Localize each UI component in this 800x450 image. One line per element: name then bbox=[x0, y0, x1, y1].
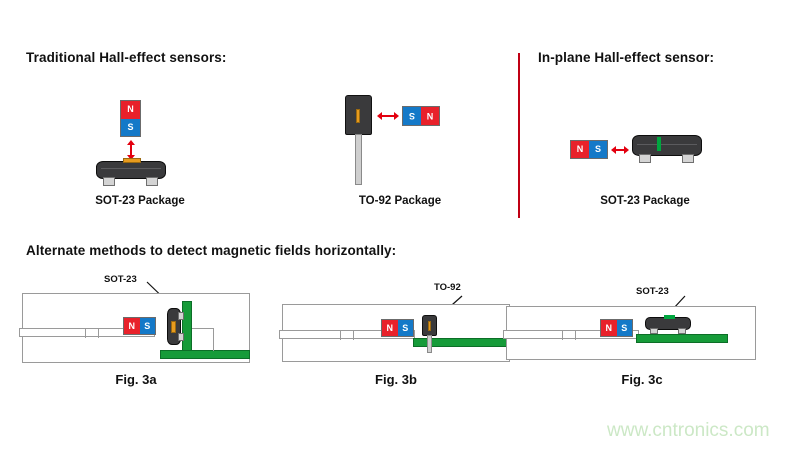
die-marker-orange bbox=[428, 321, 431, 331]
package-lead-left bbox=[639, 154, 651, 163]
to92-package-through-hole bbox=[420, 315, 440, 353]
package-lead-top bbox=[178, 312, 184, 320]
magnet-pole-south: S bbox=[398, 320, 414, 336]
die-marker-orange bbox=[171, 321, 176, 333]
magnet-pole-north: N bbox=[121, 101, 140, 119]
package-lead-right bbox=[146, 177, 158, 186]
package-body bbox=[632, 135, 702, 156]
magnet-pole-north: N bbox=[421, 107, 439, 125]
package-lead-bottom bbox=[178, 333, 184, 341]
package-pin bbox=[427, 335, 432, 353]
inplane-sot23-group: N S SOT-23 Package bbox=[570, 135, 720, 215]
fig-3b-group: TO-92 N S Fig. 3b bbox=[282, 288, 510, 388]
field-direction-arrow-vertical bbox=[125, 140, 137, 160]
sot23-package-vertical-mounted bbox=[165, 308, 183, 345]
section-divider bbox=[518, 53, 520, 218]
to92-package-horizontal-sensing bbox=[345, 95, 372, 185]
package-pin bbox=[355, 134, 362, 185]
die-marker-orange bbox=[356, 109, 360, 123]
package-lead-left bbox=[650, 328, 658, 334]
support-bracket bbox=[192, 328, 214, 351]
watermark-text: www.cntronics.com bbox=[607, 420, 770, 442]
magnet-pole-north: N bbox=[382, 320, 398, 336]
die-marker-green bbox=[657, 137, 661, 151]
sot23-package-surface-mounted bbox=[645, 317, 691, 335]
package-lead-right bbox=[682, 154, 694, 163]
magnet-pole-south: S bbox=[403, 107, 421, 125]
pcb-vertical bbox=[182, 301, 192, 356]
caption-sot23-package: SOT-23 Package bbox=[80, 195, 200, 207]
package-lead-right bbox=[678, 328, 686, 334]
caption-sot23-package-inplane: SOT-23 Package bbox=[560, 195, 730, 207]
magnet-horizontal-ns: N S bbox=[381, 319, 414, 337]
caption-fig-3c: Fig. 3c bbox=[528, 372, 756, 387]
heading-traditional-sensors: Traditional Hall-effect sensors: bbox=[26, 50, 227, 65]
magnet-pole-north: N bbox=[571, 141, 589, 158]
magnet-pole-south: S bbox=[589, 141, 607, 158]
sot23-package-vertical-sensing bbox=[96, 161, 166, 187]
callout-label-sot23: SOT-23 bbox=[104, 274, 137, 285]
magnet-horizontal-ns: N S bbox=[600, 319, 633, 337]
fig-3c-group: SOT-23 N S Fig. 3c bbox=[548, 288, 776, 388]
die-marker-green bbox=[664, 315, 675, 319]
package-lead-left bbox=[103, 177, 115, 186]
field-direction-arrow-horizontal bbox=[611, 144, 629, 156]
magnet-pole-north: N bbox=[601, 320, 617, 336]
traditional-to92-group: S N TO-92 Package bbox=[330, 95, 470, 215]
magnet-pole-south: S bbox=[121, 119, 140, 137]
caption-to92-package: TO-92 Package bbox=[330, 195, 470, 207]
magnet-pole-south: S bbox=[140, 318, 156, 334]
heading-inplane-sensor: In-plane Hall-effect sensor: bbox=[538, 50, 714, 65]
magnet-horizontal-ns: N S bbox=[123, 317, 156, 335]
fig-3a-group: SOT-23 N S Fig. 3a bbox=[22, 288, 250, 388]
die-marker-orange bbox=[123, 158, 141, 163]
pcb-base-horizontal bbox=[160, 350, 250, 359]
heading-alternate-methods: Alternate methods to detect magnetic fie… bbox=[26, 243, 396, 258]
magnet-pole-south: S bbox=[617, 320, 633, 336]
magnet-horizontal-ns: N S bbox=[570, 140, 608, 159]
pcb-horizontal bbox=[636, 334, 728, 343]
caption-fig-3b: Fig. 3b bbox=[282, 372, 510, 387]
magnet-vertical-ns: N S bbox=[120, 100, 141, 137]
traditional-sot23-group: N S SOT-23 Package bbox=[80, 100, 200, 215]
field-direction-arrow-horizontal bbox=[377, 110, 399, 122]
caption-fig-3a: Fig. 3a bbox=[22, 372, 250, 387]
magnet-pole-north: N bbox=[124, 318, 140, 334]
sot23-package-inplane-sensing bbox=[632, 135, 702, 165]
magnet-horizontal-sn: S N bbox=[402, 106, 440, 126]
